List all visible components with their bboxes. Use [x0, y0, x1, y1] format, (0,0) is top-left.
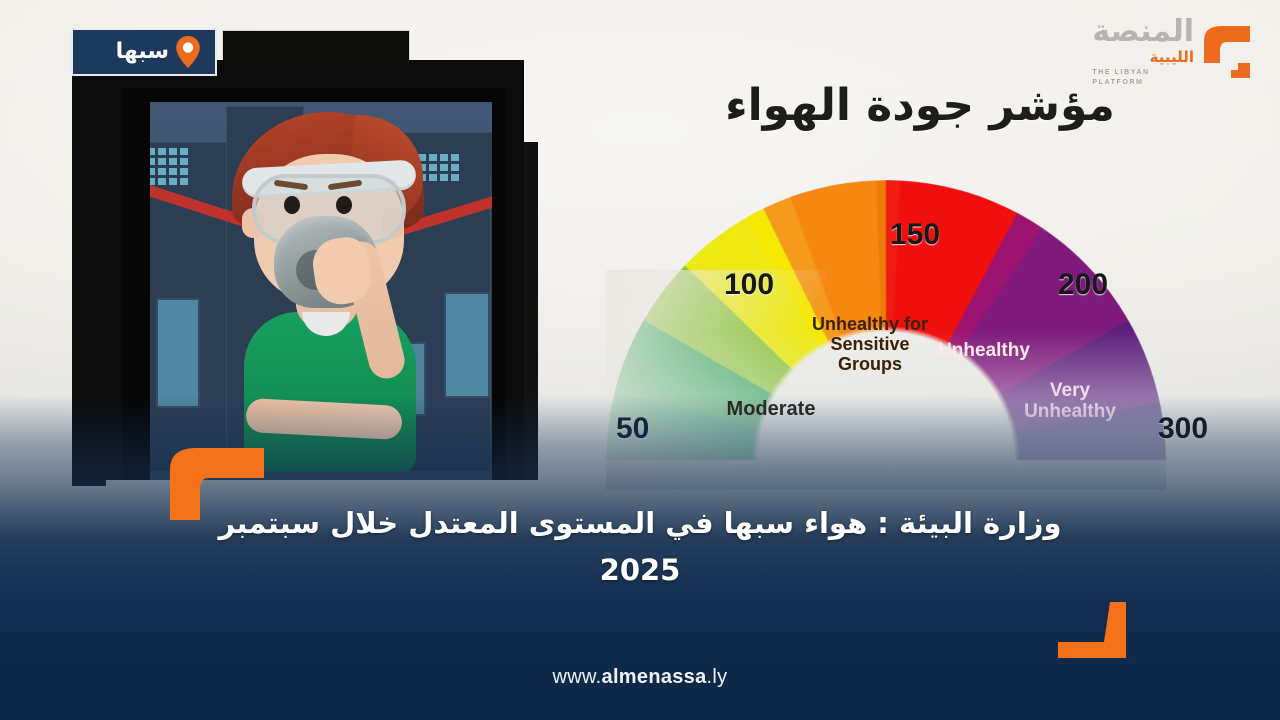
gauge-tick-150: 150 [890, 218, 940, 252]
map-pin-icon [175, 35, 201, 69]
site-url-name: almenassa [602, 666, 707, 688]
eye-right [336, 196, 352, 214]
photo-edge-top [122, 88, 506, 102]
gauge-tick-200: 200 [1058, 268, 1108, 302]
logo-arabic-subtitle: الليبية [1092, 48, 1194, 66]
eye-left [284, 196, 300, 214]
tall-window-right [444, 292, 490, 398]
gauge-tick-100: 100 [724, 268, 774, 302]
site-url[interactable]: www.almenassa.ly [0, 666, 1280, 689]
tall-window-left [156, 298, 200, 408]
logo-arabic-name: المنصة [1092, 17, 1194, 47]
logo-bracket-mark-icon [1200, 23, 1254, 81]
site-url-prefix: www. [553, 666, 602, 688]
site-url-tld: .ly [707, 666, 728, 688]
photo-letterbox-top [222, 30, 410, 64]
logo-english-line-1: THE LIBYAN [1092, 68, 1194, 77]
location-badge[interactable]: سبها [71, 28, 217, 76]
aqi-news-card: مؤشر جودة الهواء Moderate Unhealthy for … [0, 0, 1280, 720]
orange-corner-bracket-bottom-right [1056, 600, 1130, 660]
news-headline: وزارة البيئة : هواء سبها في المستوى المع… [180, 500, 1100, 594]
site-logo[interactable]: المنصة الليبية THE LIBYAN PLATFORM [1068, 16, 1254, 88]
logo-english-line-2: PLATFORM [1092, 78, 1194, 87]
location-badge-label: سبها [116, 41, 169, 63]
